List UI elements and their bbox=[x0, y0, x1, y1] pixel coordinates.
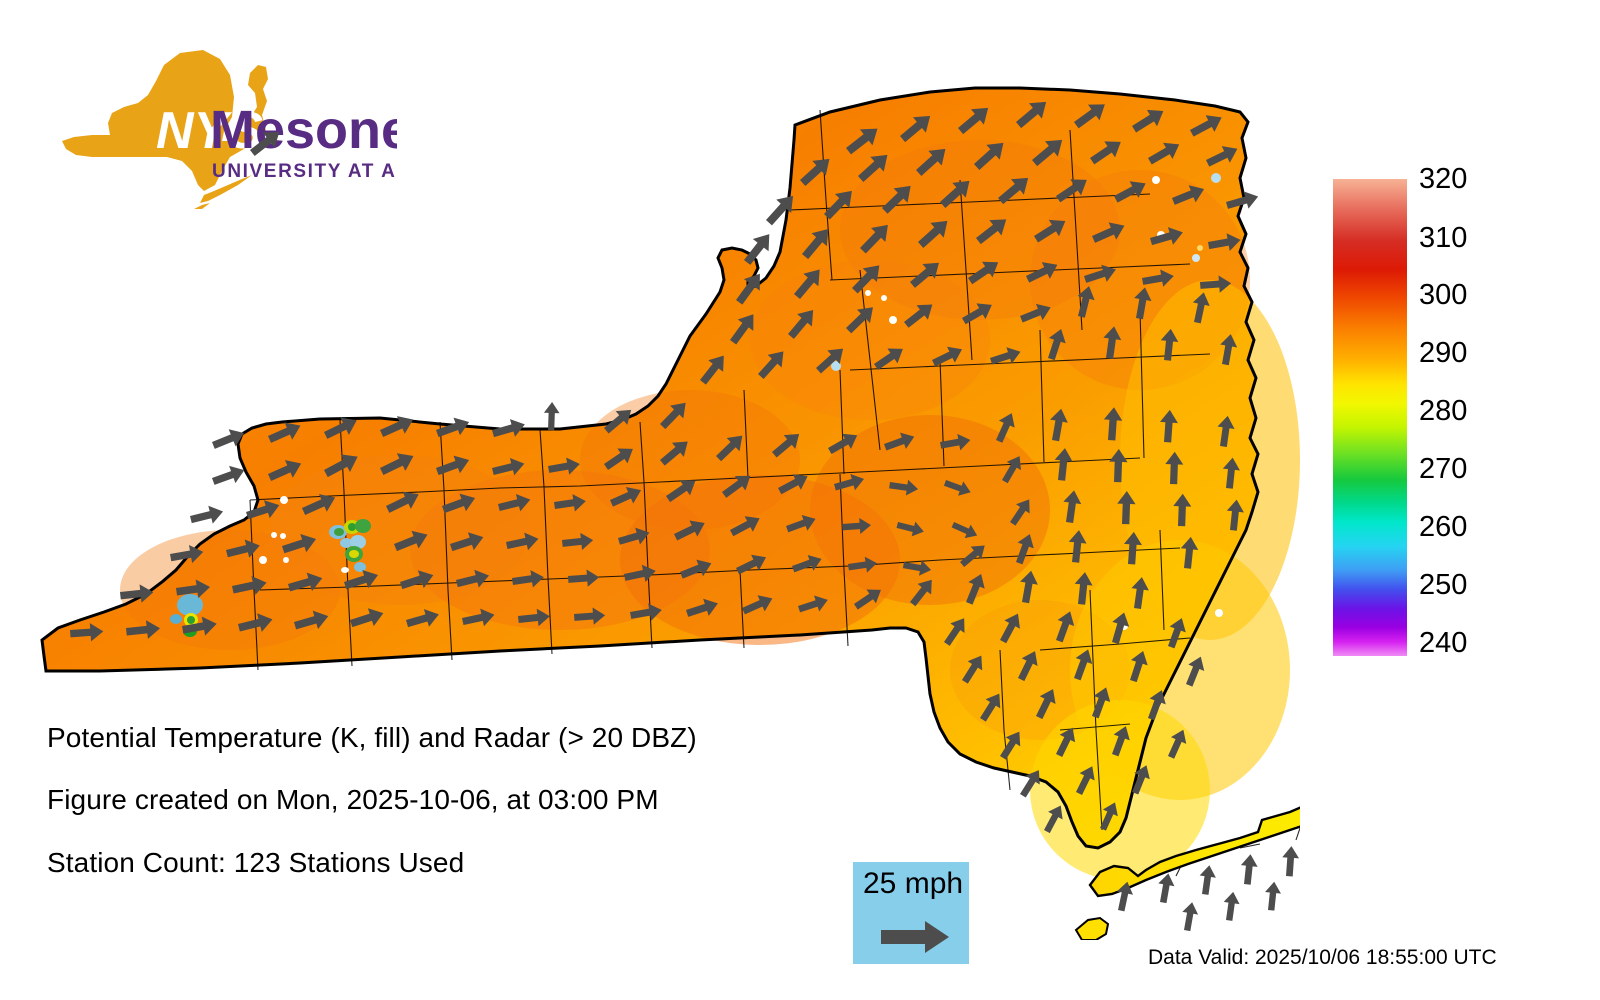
colorbar-tick-310: 310 bbox=[1419, 224, 1467, 253]
wind-scale-legend: 25 mph bbox=[853, 862, 969, 964]
colorbar-tick-290: 290 bbox=[1419, 339, 1467, 368]
colorbar-tick-270: 270 bbox=[1419, 455, 1467, 484]
data-valid-timestamp: Data Valid: 2025/10/06 18:55:00 UTC bbox=[1148, 946, 1497, 970]
wind-scale-label: 25 mph bbox=[863, 867, 963, 901]
temperature-colorbar bbox=[1333, 179, 1407, 656]
colorbar-tick-300: 300 bbox=[1419, 281, 1467, 310]
wind-scale-arrow-icon bbox=[881, 920, 951, 954]
colorbar-tick-260: 260 bbox=[1419, 513, 1467, 542]
colorbar-tick-280: 280 bbox=[1419, 397, 1467, 426]
colorbar-tick-320: 320 bbox=[1419, 165, 1467, 194]
station-count-label: Station Count: 123 Stations Used bbox=[47, 847, 464, 879]
colorbar-tick-labels: 320 310 300 290 280 270 260 250 240 bbox=[1419, 179, 1539, 656]
figure-created-timestamp: Figure created on Mon, 2025-10-06, at 03… bbox=[47, 784, 659, 816]
staten-island-fill bbox=[1076, 918, 1108, 940]
colorbar-tick-250: 250 bbox=[1419, 571, 1467, 600]
colorbar-tick-240: 240 bbox=[1419, 629, 1467, 658]
figure-canvas: NYS Mesonet UNIVERSITY AT ALBANY bbox=[0, 0, 1600, 1000]
colorbar-gradient bbox=[1333, 179, 1407, 656]
figure-title: Potential Temperature (K, fill) and Rada… bbox=[47, 722, 697, 754]
potential-temperature-fill bbox=[42, 88, 1300, 880]
